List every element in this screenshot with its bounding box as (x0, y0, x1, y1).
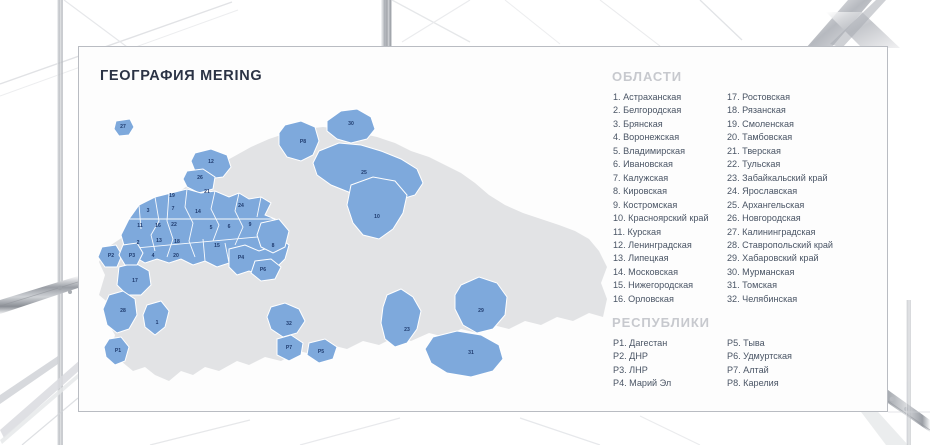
map-region-label: 12 (208, 159, 214, 165)
map-region-label: 22 (171, 222, 177, 228)
oblast-list-item: 26. Новгородская (727, 212, 877, 225)
map-region-label: 17 (132, 278, 138, 284)
oblast-list-item: 11. Курская (613, 226, 743, 239)
map-region-label: 29 (478, 308, 484, 314)
respublika-list-item: Р5. Тыва (727, 337, 867, 350)
oblast-list-item: 14. Московская (613, 266, 743, 279)
oblast-list-item: 31. Томская (727, 279, 877, 292)
respublika-list-item: Р1. Дагестан (613, 337, 723, 350)
map-region-label: 30 (348, 121, 354, 127)
map-region-label: 31 (468, 350, 474, 356)
map-region-label: 32 (286, 321, 292, 327)
respublika-list-item: Р8. Карелия (727, 377, 867, 390)
section-title-respubliki: РЕСПУБЛИКИ (612, 315, 710, 330)
map-region-label: 25 (361, 170, 367, 176)
map-region-label: 19 (169, 193, 175, 199)
oblast-list-item: 24. Ярославская (727, 185, 877, 198)
map-region-label: 23 (404, 327, 410, 333)
map-region-label: Р1 (115, 348, 121, 354)
oblast-list-item: 25. Архангельская (727, 199, 877, 212)
map-region-31-tomsk (425, 331, 503, 377)
oblast-list-item: 9. Костромская (613, 199, 743, 212)
oblasti-list-column-2: 17. Ростовская18. Рязанская19. Смоленска… (727, 91, 877, 306)
map-region-label: 7 (172, 206, 175, 212)
oblast-list-item: 10. Красноярский край (613, 212, 743, 225)
map-region-label: 2 (137, 240, 140, 246)
map-region-label: 9 (249, 222, 252, 228)
page-title: ГЕОГРАФИЯ MERING (100, 68, 262, 84)
map-region-label: Р4 (238, 255, 244, 261)
respublika-list-item: Р3. ЛНР (613, 364, 723, 377)
oblast-list-item: 6. Ивановская (613, 158, 743, 171)
oblast-list-item: 2. Белгородская (613, 104, 743, 117)
map-region-label: 11 (137, 223, 143, 229)
oblast-list-item: 22. Тульская (727, 158, 877, 171)
respublika-list-item: Р2. ДНР (613, 350, 723, 363)
russia-map: 271230Р82625192137142411162256921318158Р… (89, 99, 609, 399)
oblast-list-item: 23. Забайкальский край (727, 172, 877, 185)
map-region-label: 4 (152, 253, 155, 259)
oblast-list-item: 8. Кировская (613, 185, 743, 198)
map-region-label: 20 (173, 253, 179, 259)
oblast-list-item: 27. Калининградская (727, 226, 877, 239)
map-region-label: 26 (197, 175, 203, 181)
respublika-list-item: Р7. Алтай (727, 364, 867, 377)
respublika-list-item: Р4. Марий Эл (613, 377, 723, 390)
map-region-label: Р6 (260, 267, 266, 273)
oblast-list-item: 18. Рязанская (727, 104, 877, 117)
oblast-list-item: 5. Владимирская (613, 145, 743, 158)
map-region-label: 13 (156, 238, 162, 244)
oblast-list-item: 19. Смоленская (727, 118, 877, 131)
map-region-label: Р3 (129, 253, 135, 259)
map-region-label: 28 (120, 308, 126, 314)
oblast-list-item: 1. Астраханская (613, 91, 743, 104)
oblast-list-item: 21. Тверская (727, 145, 877, 158)
map-region-label: 14 (195, 209, 201, 215)
oblast-list-item: 15. Нижегородская (613, 279, 743, 292)
oblast-list-item: 12. Ленинградская (613, 239, 743, 252)
oblast-list-item: 28. Ставропольский край (727, 239, 877, 252)
respubliki-list-column-1: Р1. ДагестанР2. ДНРР3. ЛНРР4. Марий Эл (613, 337, 723, 391)
oblast-list-item: 3. Брянская (613, 118, 743, 131)
oblast-list-item: 29. Хабаровский край (727, 252, 877, 265)
map-region-label: 1 (156, 320, 159, 326)
oblast-list-item: 20. Тамбовская (727, 131, 877, 144)
map-region-label: 8 (272, 243, 275, 249)
map-region-label: 10 (374, 214, 380, 220)
oblast-list-item: 13. Липецкая (613, 252, 743, 265)
oblasti-list-column-1: 1. Астраханская2. Белгородская3. Брянска… (613, 91, 743, 306)
map-region-label: Р5 (318, 349, 324, 355)
map-region-label: Р2 (108, 253, 114, 259)
respubliki-list-column-2: Р5. ТываР6. УдмуртскаяР7. АлтайР8. Карел… (727, 337, 867, 391)
oblast-list-item: 16. Орловская (613, 293, 743, 306)
oblast-list-item: 17. Ростовская (727, 91, 877, 104)
oblast-list-item: 30. Мурманская (727, 266, 877, 279)
map-region-label: 3 (147, 208, 150, 214)
map-region-label: Р8 (300, 139, 306, 145)
section-title-oblasti: ОБЛАСТИ (612, 69, 682, 84)
map-region-label: 16 (155, 223, 161, 229)
oblast-list-item: 32. Челябинская (727, 293, 877, 306)
map-region-label: 15 (214, 243, 220, 249)
map-region-label: 5 (210, 225, 213, 231)
map-region-label: 21 (204, 189, 210, 195)
oblast-list-item: 4. Воронежская (613, 131, 743, 144)
map-region-label: 24 (238, 203, 244, 209)
oblast-list-item: 7. Калужская (613, 172, 743, 185)
map-region-label: 6 (228, 224, 231, 230)
respublika-list-item: Р6. Удмуртская (727, 350, 867, 363)
map-region-label: Р7 (286, 345, 292, 351)
map-region-label: 27 (120, 124, 126, 130)
map-region-label: 18 (174, 239, 180, 245)
infographic-panel: ГЕОГРАФИЯ MERING (78, 46, 888, 412)
